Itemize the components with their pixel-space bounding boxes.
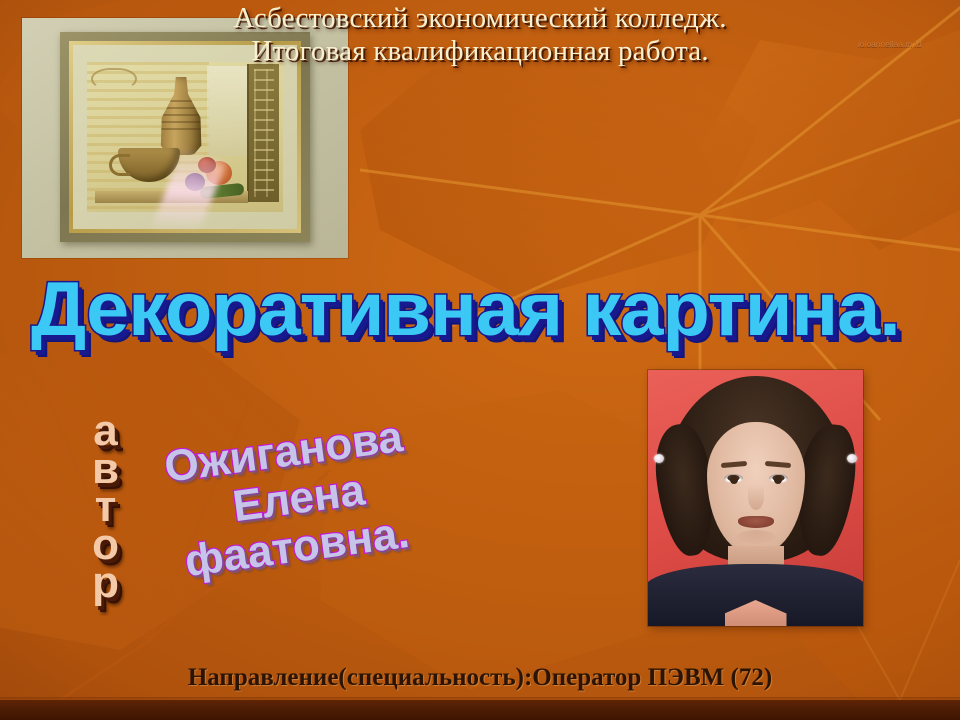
specialty-caption: Направление(специальность):Оператор ПЭВМ… <box>0 664 960 692</box>
artwork-grapes <box>185 173 205 191</box>
author-portrait-photo <box>648 370 863 626</box>
still-life-artwork <box>87 62 283 212</box>
artwork-window <box>207 66 247 156</box>
presentation-slide: Асбестовский экономический колледж. Итог… <box>0 0 960 720</box>
portrait-earring-right <box>847 454 857 463</box>
portrait-chin <box>736 530 776 544</box>
avtor-letter-5: р <box>92 564 119 602</box>
artwork-scroll-motif <box>91 68 137 90</box>
portrait-earring-left <box>654 454 664 463</box>
headline-line-1: Асбестовский экономический колледж. <box>0 0 960 35</box>
frame-mat <box>73 45 297 229</box>
portrait-mouth <box>738 516 774 528</box>
artwork-ornament-panel <box>247 64 279 202</box>
wordart-avtor-label: а в т о р <box>92 412 119 602</box>
portrait-pupil-left <box>730 476 738 484</box>
portrait-eyebrow-right <box>764 461 790 468</box>
portrait-nose <box>748 484 764 510</box>
portrait-eyebrow-left <box>720 461 746 468</box>
bottom-dark-band <box>0 700 960 720</box>
corner-watermark: ioioannellaa.m id <box>858 40 921 49</box>
frame-gold-inlay <box>69 41 301 233</box>
wordart-title: Декоративная картина. <box>31 270 949 350</box>
portrait-pupil-right <box>774 476 782 484</box>
slide-headline: Асбестовский экономический колледж. Итог… <box>0 0 960 68</box>
headline-line-2: Итоговая квалификационная работа. <box>0 35 960 68</box>
